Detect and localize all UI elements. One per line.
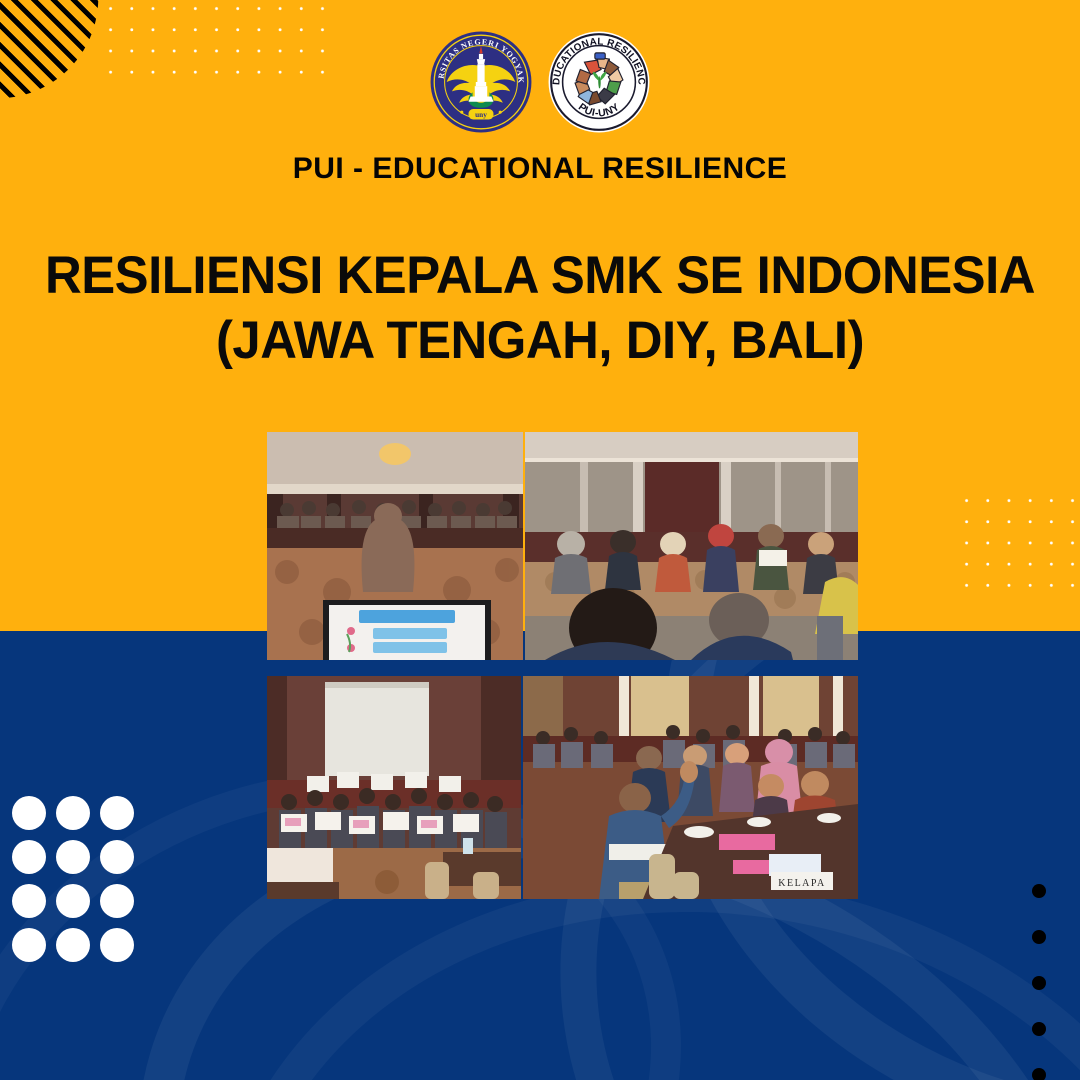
photo-speaker-presentation [267, 432, 523, 660]
photo-collage: KELAPA [267, 432, 858, 899]
poster-canvas: UNIVERSITAS NEGERI YOGYAKARTA uny [0, 0, 1080, 1080]
page-title: RESILIENSI KEPALA SMK SE INDONESIA (JAWA… [0, 243, 1080, 373]
svg-text:uny: uny [475, 111, 487, 119]
headline-line-1: RESILIENSI KEPALA SMK SE INDONESIA [22, 243, 1059, 308]
logo-row: UNIVERSITAS NEGERI YOGYAKARTA uny [0, 30, 1080, 134]
photo-banquet-table: KELAPA [523, 676, 858, 899]
big-dot-grid [12, 796, 144, 972]
black-dot-column [1032, 884, 1046, 1080]
svg-text:KELAPA: KELAPA [778, 878, 826, 889]
collage-row-bottom: KELAPA [267, 676, 858, 899]
collage-row-top [267, 432, 858, 660]
dot-grid-right [952, 486, 1080, 592]
kicker-text: PUI - EDUCATIONAL RESILIENCE [0, 152, 1080, 186]
uny-logo: UNIVERSITAS NEGERI YOGYAKARTA uny [429, 30, 533, 134]
headline-line-2: (JAWA TENGAH, DIY, BALI) [22, 308, 1059, 373]
pui-uny-logo: EDUCATIONAL RESILIENCE PUI-UNY [547, 30, 651, 134]
photo-group-photo-with-drawings [267, 676, 521, 899]
photo-group-discussion [525, 432, 858, 660]
